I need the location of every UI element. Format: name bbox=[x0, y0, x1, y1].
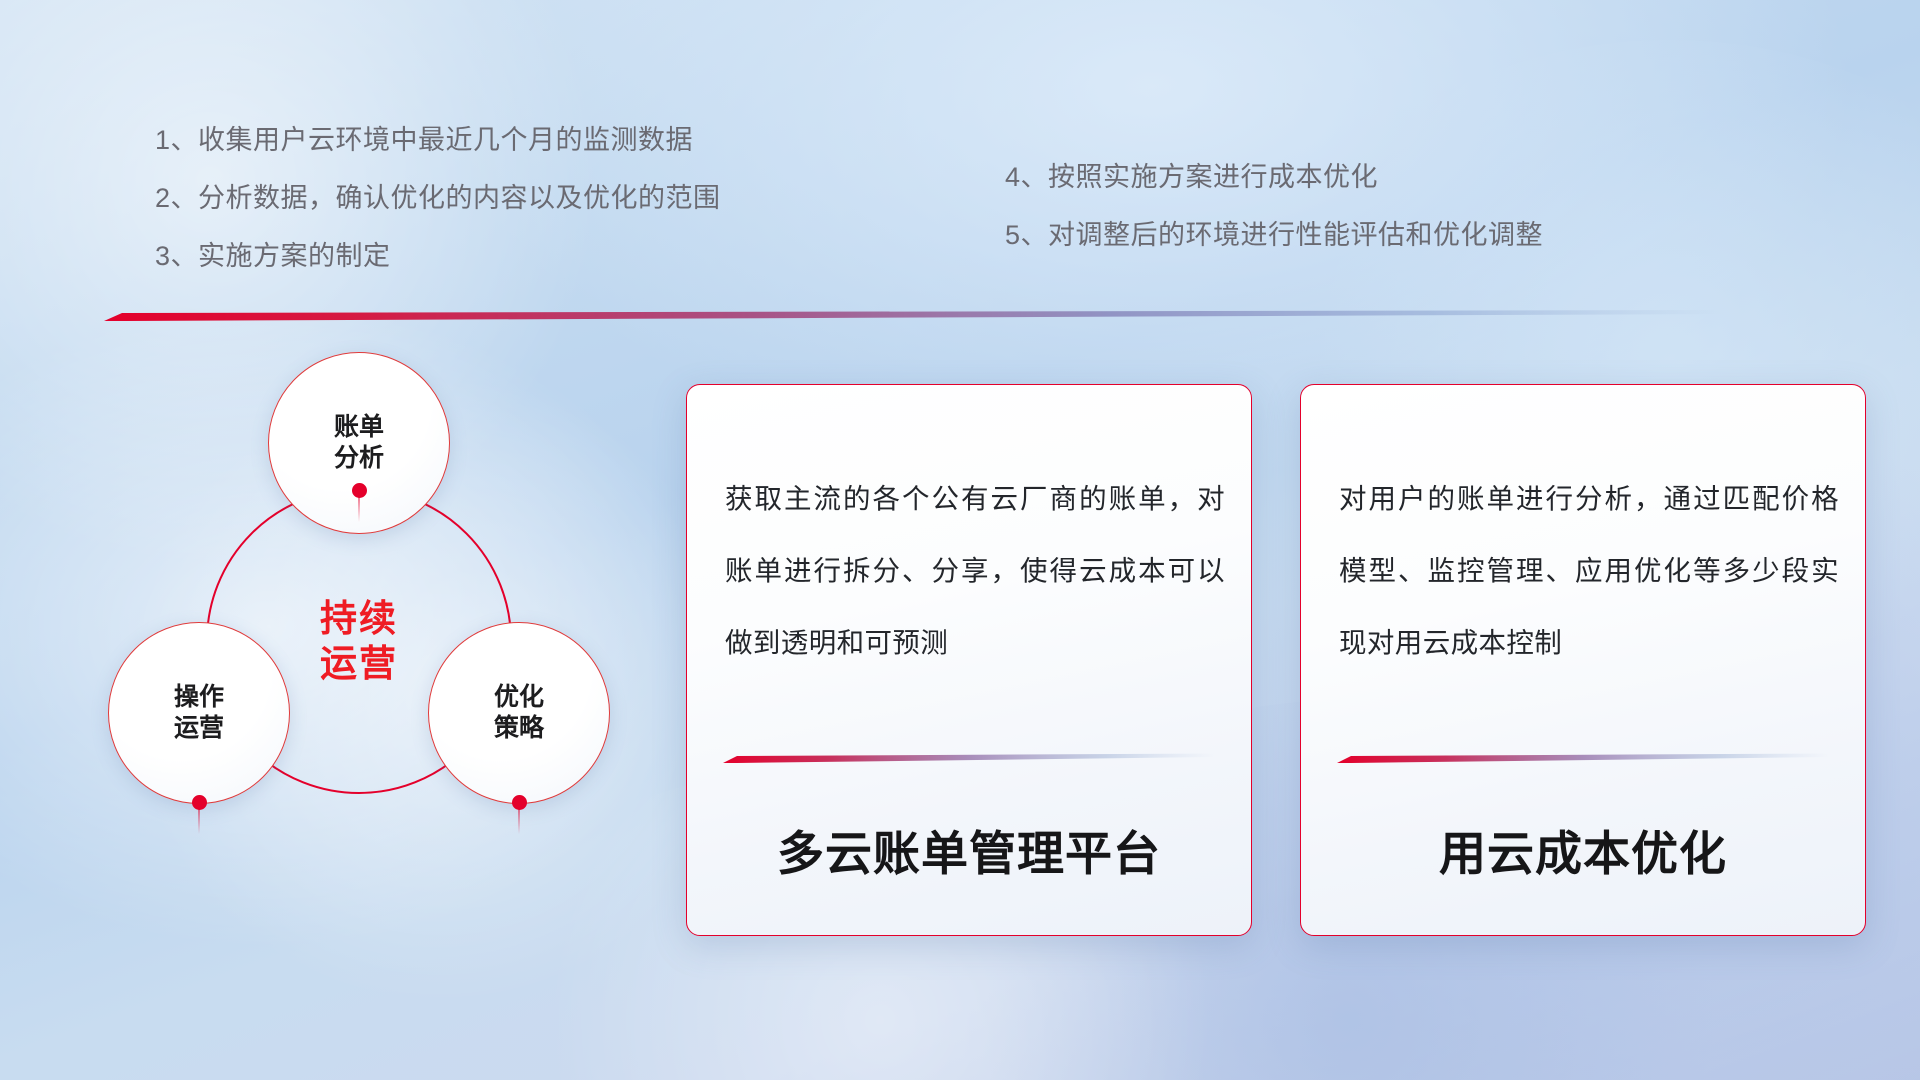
header-divider bbox=[104, 309, 1724, 323]
diagram-node-billing-analysis-line1: 账单 bbox=[334, 412, 384, 443]
diagram-node-dot-top bbox=[352, 483, 367, 498]
step-item-5: 5、对调整后的环境进行性能评估和优化调整 bbox=[1005, 222, 1543, 249]
card-1-body-text: 获取主流的各个公有云厂商的账单，对账单进行拆分、分享，使得云成本可以做到透明和可… bbox=[725, 463, 1225, 679]
diagram-node-billing-analysis-line2: 分析 bbox=[334, 443, 384, 474]
steps-list-right: 4、按照实施方案进行成本优化 5、对调整后的环境进行性能评估和优化调整 bbox=[1005, 164, 1543, 280]
diagram-node-dot-left bbox=[192, 795, 207, 810]
card-2-title: 用云成本优化 bbox=[1301, 815, 1865, 884]
step-item-2: 2、分析数据，确认优化的内容以及优化的范围 bbox=[155, 185, 721, 212]
card-2-divider bbox=[1337, 753, 1829, 765]
diagram-center-label: 持续 运营 bbox=[206, 488, 512, 794]
card-2-body-text: 对用户的账单进行分析，通过匹配价格模型、监控管理、应用优化等多少段实现对用云成本… bbox=[1339, 463, 1839, 679]
card-1-divider bbox=[723, 753, 1215, 765]
slide-canvas: 1、收集用户云环境中最近几个月的监测数据 2、分析数据，确认优化的内容以及优化的… bbox=[0, 0, 1920, 1080]
diagram-node-tail-right bbox=[518, 808, 520, 834]
steps-list-left: 1、收集用户云环境中最近几个月的监测数据 2、分析数据，确认优化的内容以及优化的… bbox=[155, 127, 721, 301]
continuous-operation-diagram: 账单 分析 操作 运营 优化 策略 持续 运营 bbox=[96, 352, 656, 952]
step-item-3: 3、实施方案的制定 bbox=[155, 243, 721, 270]
diagram-center-line2: 运营 bbox=[320, 641, 398, 686]
step-item-4: 4、按照实施方案进行成本优化 bbox=[1005, 164, 1543, 191]
card-1-title: 多云账单管理平台 bbox=[687, 815, 1251, 884]
card-cloud-cost-optimization[interactable]: 对用户的账单进行分析，通过匹配价格模型、监控管理、应用优化等多少段实现对用云成本… bbox=[1300, 384, 1866, 936]
diagram-node-dot-right bbox=[512, 795, 527, 810]
step-item-1: 1、收集用户云环境中最近几个月的监测数据 bbox=[155, 127, 721, 154]
card-multi-cloud-billing-platform[interactable]: 获取主流的各个公有云厂商的账单，对账单进行拆分、分享，使得云成本可以做到透明和可… bbox=[686, 384, 1252, 936]
diagram-center-line1: 持续 bbox=[320, 596, 398, 641]
diagram-node-tail-top bbox=[358, 496, 360, 522]
diagram-node-tail-left bbox=[198, 808, 200, 834]
